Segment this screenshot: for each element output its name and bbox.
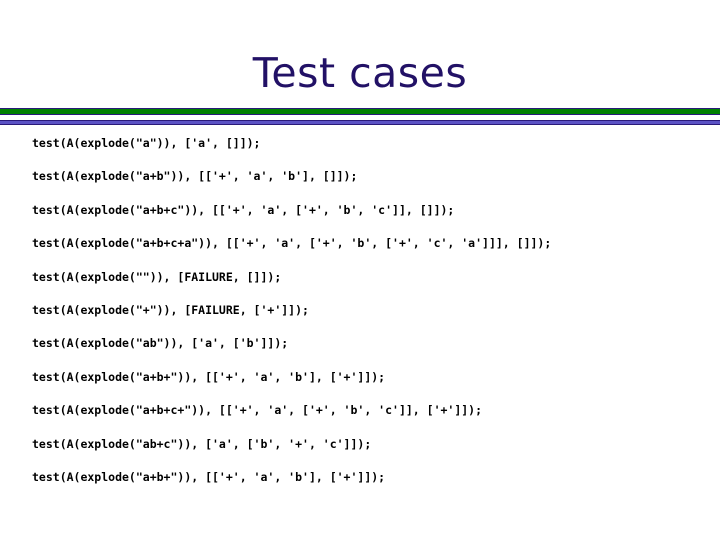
code-line: test(A(explode("ab")), ['a', ['b']]); — [32, 336, 704, 369]
code-line: test(A(explode("a+b")), [['+', 'a', 'b']… — [32, 169, 704, 202]
divider-green-band — [0, 108, 720, 115]
divider-thin-line — [0, 120, 720, 125]
code-line: test(A(explode("")), [FAILURE, []]); — [32, 270, 704, 303]
code-line: test(A(explode("a+b+c+a")), [['+', 'a', … — [32, 236, 704, 269]
code-list: test(A(explode("a")), ['a', []]); test(A… — [32, 136, 704, 503]
code-line: test(A(explode("ab+c")), ['a', ['b', '+'… — [32, 437, 704, 470]
code-line: test(A(explode("+")), [FAILURE, ['+']]); — [32, 303, 704, 336]
slide-title-area: Test cases — [0, 42, 720, 104]
code-line: test(A(explode("a+b+c+")), [['+', 'a', [… — [32, 403, 704, 436]
code-line: test(A(explode("a+b+")), [['+', 'a', 'b'… — [32, 370, 704, 403]
code-line: test(A(explode("a+b+c")), [['+', 'a', ['… — [32, 203, 704, 236]
title-divider — [0, 108, 720, 132]
slide: Test cases test(A(explode("a")), ['a', [… — [0, 0, 720, 540]
code-line: test(A(explode("a")), ['a', []]); — [32, 136, 704, 169]
page-title: Test cases — [253, 53, 467, 94]
code-line: test(A(explode("a+b+")), [['+', 'a', 'b'… — [32, 470, 704, 503]
